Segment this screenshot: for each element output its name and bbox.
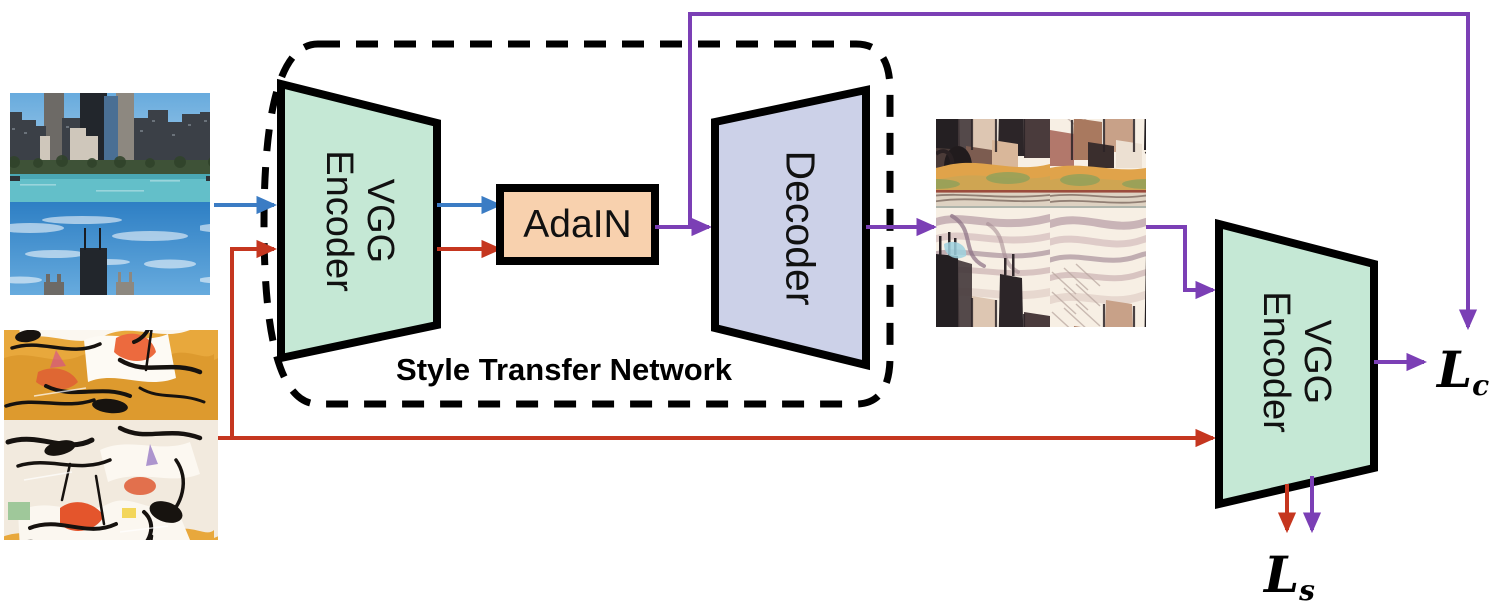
content-image [10,93,210,295]
style-loss-symbol: L [1264,545,1299,603]
vgg-encoder-right-label-line1: VGG [1297,291,1337,433]
style-loss-subscript: s [1299,574,1315,603]
vgg-encoder-left-label-line1: VGG [360,150,400,292]
adain-label: AdaIN [500,188,655,261]
vgg-encoder-right-label-line2: Encoder [1255,291,1297,433]
style-loss-label: Ls [1264,545,1315,603]
flow-style-to-encoder [218,249,274,438]
content-loss-label: Lc [1437,340,1489,402]
architecture-diagram-canvas: VGG Encoder AdaIN Decoder Style Transfer… [0,0,1496,603]
content-loss-subscript: c [1472,369,1489,402]
decoder-label: Decoder [777,151,824,306]
stylized-output-image [936,119,1146,327]
style-image [4,330,218,540]
style-transfer-network-title: Style Transfer Network [264,352,864,388]
content-loss-symbol: L [1437,340,1472,399]
vgg-encoder-left-label-line2: Encoder [318,150,360,292]
flow-stylized-to-encoder-right [1146,227,1213,290]
